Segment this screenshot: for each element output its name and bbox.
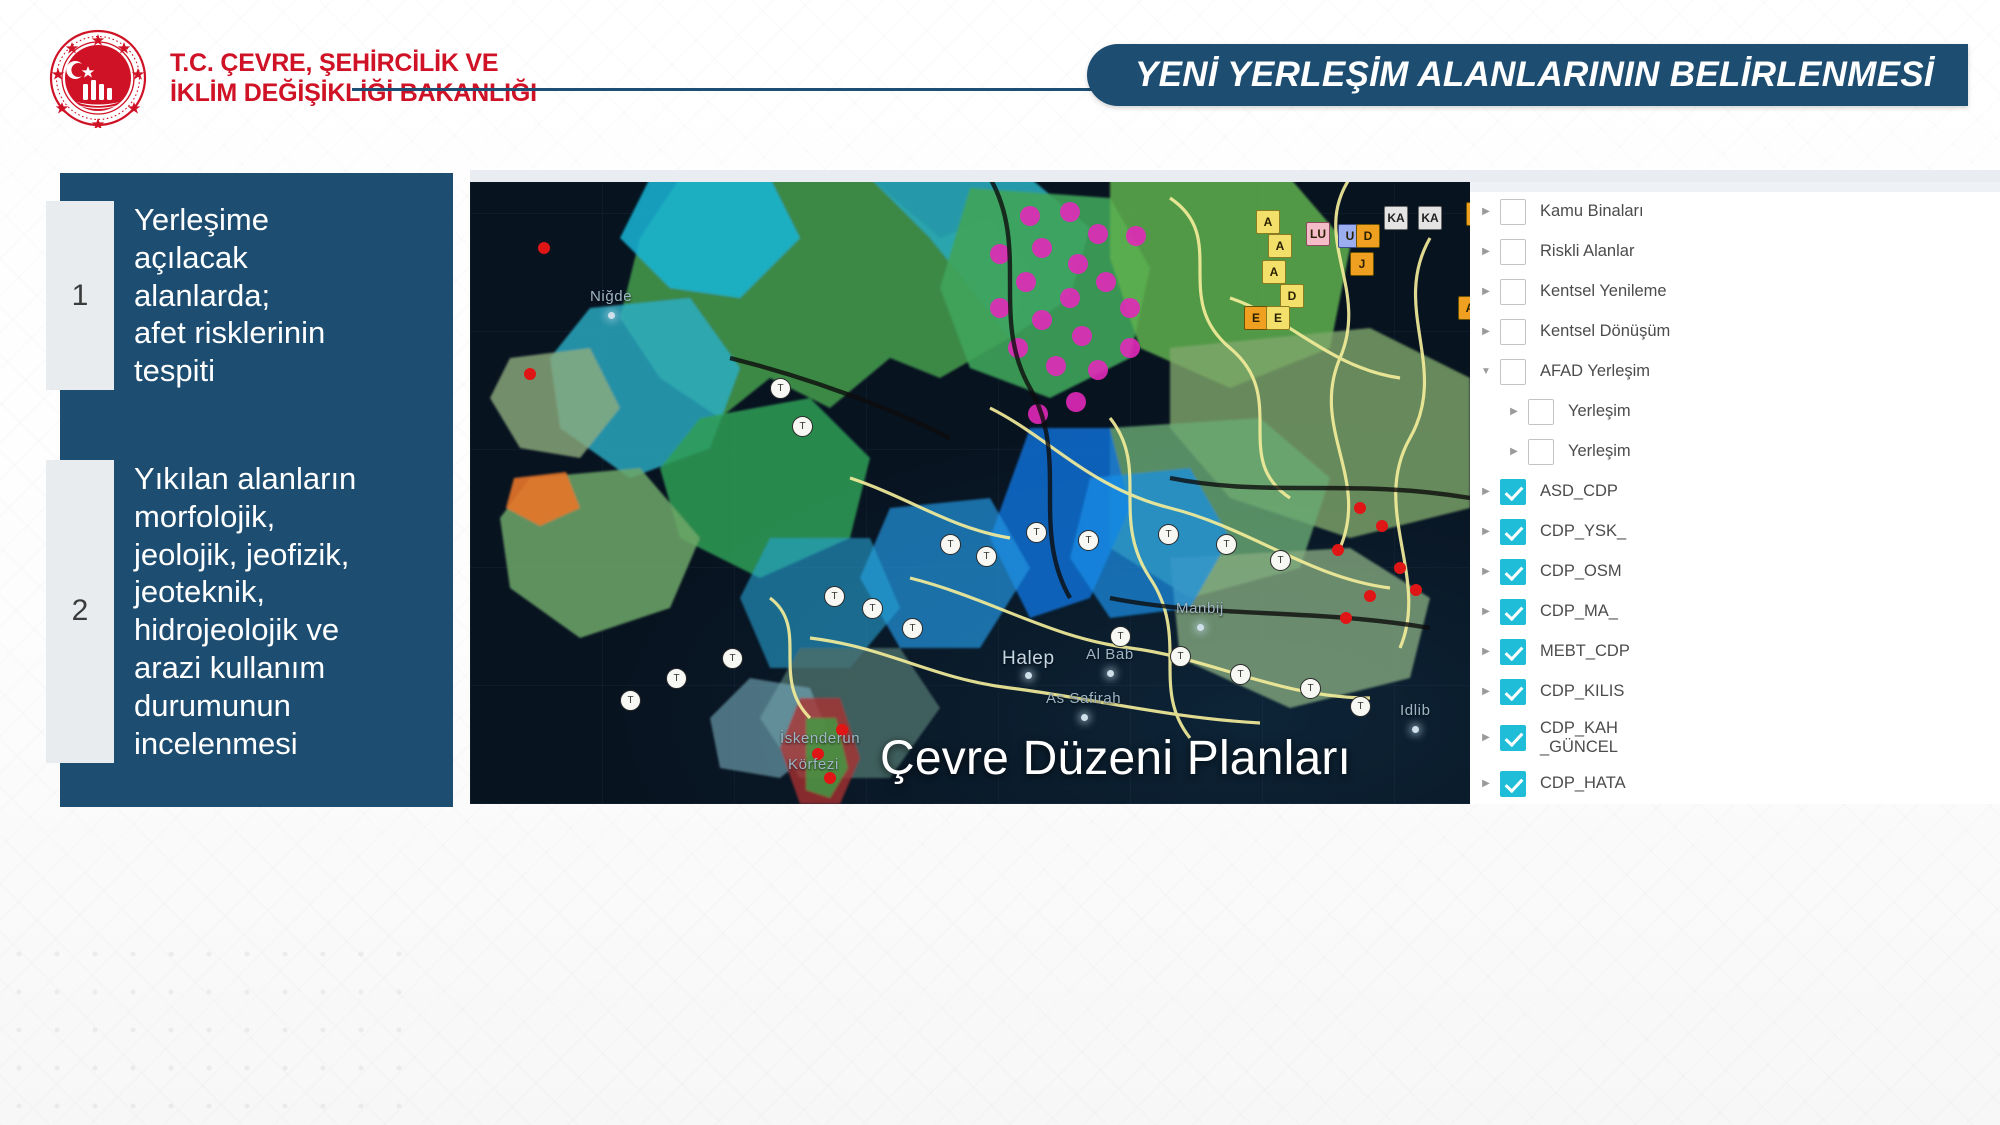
map-poi-pin[interactable]: T [1216,534,1237,555]
map-chip-icon[interactable]: A [1262,260,1286,284]
chevron-down-icon[interactable]: ▼ [1478,367,1494,377]
layers-panel[interactable]: ▶ Kamu Binaları ▶ Riskli Alanlar ▶ Kents… [1470,178,2000,804]
layer-label: AFAD Yerleşim [1540,362,1650,381]
layer-checkbox[interactable] [1500,559,1526,585]
map-poi-pin[interactable]: T [902,618,923,639]
map-poi-pin[interactable]: T [792,416,813,437]
layer-row[interactable]: ▶ MEBT_CDP [1470,632,2000,672]
layer-row[interactable]: ▶ CDP_YSK_ [1470,512,2000,552]
layer-label: Kentsel Yenileme [1540,282,1667,301]
item-number-badge-1: 1 [46,201,114,390]
background-dot-pattern [0,935,420,1125]
layer-row[interactable]: ▶ Yerleşim [1470,392,2000,432]
layer-checkbox[interactable] [1500,199,1526,225]
layer-row[interactable]: ▶ Kentsel Dönüşüm [1470,312,2000,352]
layer-checkbox[interactable] [1528,439,1554,465]
numbered-item-2: 2 Yıkılan alanların morfolojik, jeolojik… [60,460,364,763]
layer-checkbox[interactable] [1500,279,1526,305]
map-poi-pin[interactable]: T [976,546,997,567]
layer-label: ASD_CDP [1540,482,1618,501]
map-poi-pin[interactable]: T [862,598,883,619]
map-chip-icon[interactable]: E [1266,306,1290,330]
layer-row[interactable]: ▶ CDP_MA_ [1470,592,2000,632]
layer-row[interactable]: ▶ CDP_OSM [1470,552,2000,592]
layer-row[interactable]: ▶ Riskli Alanlar [1470,232,2000,272]
map-poi-pin[interactable]: T [1300,678,1321,699]
layer-label: MEBT_CDP [1540,642,1630,661]
map-poi-pin[interactable]: T [1026,522,1047,543]
map-chip-icon[interactable]: D [1280,284,1304,308]
map-chip-icon[interactable]: J [1350,252,1374,276]
map-toolbar-strip [470,170,2000,182]
layer-checkbox[interactable] [1500,771,1526,797]
map-canvas[interactable]: Niğde İskenderun Körfezi Manbij Halep As… [470,178,1470,804]
layer-row[interactable]: ▶ Kentsel Yenileme [1470,272,2000,312]
chevron-right-icon[interactable]: ▶ [1478,527,1494,537]
ministry-name: T.C. ÇEVRE, ŞEHİRCİLİK VE İKLİM DEĞİŞİKL… [170,48,537,109]
map-vector-layers [470,178,1470,804]
map-poi-pin[interactable]: T [1350,696,1371,717]
map-chip-icon[interactable]: E [1244,306,1268,330]
slide-title-banner: YENİ YERLEŞİM ALANLARININ BELİRLENMESİ [1087,44,1968,106]
item-number-badge-2: 2 [46,460,114,763]
chevron-right-icon[interactable]: ▶ [1478,567,1494,577]
layer-row[interactable]: ▶ Kamu Binaları [1470,192,2000,232]
map-poi-pin[interactable]: T [620,690,641,711]
layer-checkbox[interactable] [1500,479,1526,505]
layer-label: CDP_MA_ [1540,602,1618,621]
map-chip-icon[interactable]: A [1268,234,1292,258]
layer-row[interactable]: ▶ Yerleşim [1470,432,2000,472]
chevron-right-icon[interactable]: ▶ [1478,687,1494,697]
layer-row[interactable]: ▶ CDP_KILIS [1470,672,2000,712]
numbered-points-panel: 1 Yerleşime açılacak alanlarda; afet ris… [60,173,453,807]
map-chip-icon[interactable]: A [1256,210,1280,234]
layer-checkbox[interactable] [1500,519,1526,545]
chevron-right-icon[interactable]: ▶ [1478,647,1494,657]
map-poi-pin[interactable]: T [1270,550,1291,571]
map-chip-icon[interactable]: LU [1306,222,1330,246]
map-poi-pin[interactable]: T [722,648,743,669]
map-poi-pin[interactable]: T [824,586,845,607]
map-poi-pin[interactable]: T [666,668,687,689]
layer-row[interactable]: ▶ CDP_HATA [1470,764,2000,804]
layer-row[interactable]: ▶ ASD_CDP [1470,472,2000,512]
map-poi-pin[interactable]: T [1230,664,1251,685]
layer-row[interactable]: ▶ CDP_KAH _GÜNCEL [1470,712,2000,764]
map-poi-pin[interactable]: T [1158,524,1179,545]
layer-checkbox[interactable] [1500,599,1526,625]
ministry-seal-logo [48,28,148,128]
layer-checkbox[interactable] [1500,359,1526,385]
page-header: T.C. ÇEVRE, ŞEHİRCİLİK VE İKLİM DEĞİŞİKL… [0,0,2000,150]
map-poi-pin[interactable]: T [940,534,961,555]
map-poi-pin[interactable]: T [770,378,791,399]
layer-label: Kamu Binaları [1540,202,1644,221]
chevron-right-icon[interactable]: ▶ [1478,327,1494,337]
layer-label: CDP_HATA [1540,774,1626,793]
layer-checkbox[interactable] [1500,679,1526,705]
layer-label: Riskli Alanlar [1540,242,1634,261]
chevron-right-icon[interactable]: ▶ [1478,733,1494,743]
layer-label: CDP_KILIS [1540,682,1624,701]
item-text-1: Yerleşime açılacak alanlarda; afet riskl… [114,201,333,390]
layer-label: Yerleşim [1568,442,1631,461]
chevron-right-icon[interactable]: ▶ [1478,247,1494,257]
layer-row[interactable]: ▼ AFAD Yerleşim [1470,352,2000,392]
chevron-right-icon[interactable]: ▶ [1506,407,1522,417]
chevron-right-icon[interactable]: ▶ [1478,287,1494,297]
chevron-right-icon[interactable]: ▶ [1478,607,1494,617]
layer-checkbox[interactable] [1500,639,1526,665]
layer-checkbox[interactable] [1528,399,1554,425]
chevron-right-icon[interactable]: ▶ [1478,487,1494,497]
numbered-item-1: 1 Yerleşime açılacak alanlarda; afet ris… [60,201,333,390]
layer-label: CDP_OSM [1540,562,1622,581]
map-chip-icon[interactable]: A [1458,296,1470,320]
chevron-right-icon[interactable]: ▶ [1506,447,1522,457]
page-title: YENİ YERLEŞİM ALANLARININ BELİRLENMESİ [1135,55,1934,95]
layer-label: CDP_KAH _GÜNCEL [1540,719,1618,758]
map-poi-pin[interactable]: T [1170,646,1191,667]
layer-label: Yerleşim [1568,402,1631,421]
item-text-2: Yıkılan alanların morfolojik, jeolojik, … [114,460,364,763]
map-chip-icon[interactable]: KA [1384,206,1408,230]
layer-checkbox[interactable] [1500,319,1526,345]
map-chip-icon[interactable]: KA [1418,206,1442,230]
map-poi-pin[interactable]: T [1078,530,1099,551]
layer-label: Kentsel Dönüşüm [1540,322,1670,341]
chevron-right-icon[interactable]: ▶ [1478,207,1494,217]
map-chip-icon[interactable]: D [1356,224,1380,248]
map-poi-pin[interactable]: T [1110,626,1131,647]
layer-checkbox[interactable] [1500,725,1526,751]
chevron-right-icon[interactable]: ▶ [1478,779,1494,789]
layer-label: CDP_YSK_ [1540,522,1626,541]
ministry-branding: T.C. ÇEVRE, ŞEHİRCİLİK VE İKLİM DEĞİŞİKL… [48,28,537,128]
gis-map-screenshot: Niğde İskenderun Körfezi Manbij Halep As… [470,170,2000,804]
layer-checkbox[interactable] [1500,239,1526,265]
map-caption: Çevre Düzeni Planları [880,731,1351,786]
